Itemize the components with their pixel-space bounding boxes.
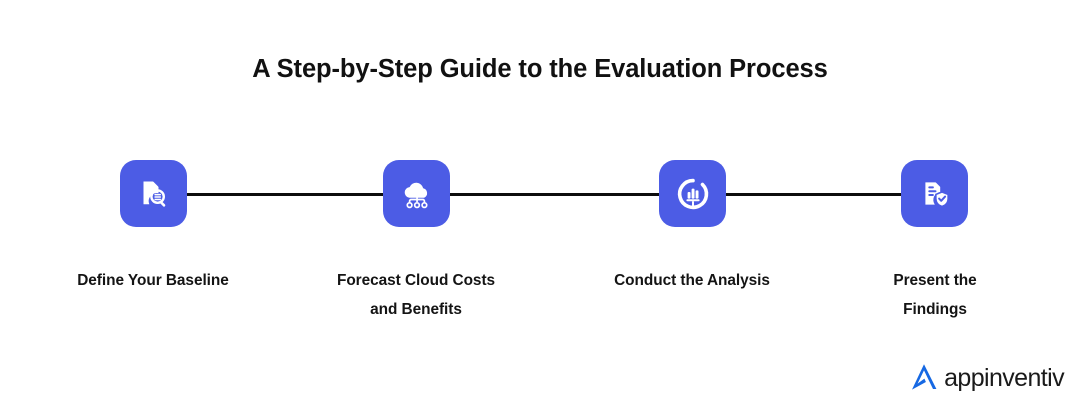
step-1-label: Define Your Baseline [33, 266, 273, 295]
step-1-label-line1: Define Your Baseline [33, 266, 273, 295]
process-steps-row [0, 155, 1080, 235]
step-2-label-line2: and Benefits [296, 295, 536, 324]
connector-line-1-2 [183, 193, 387, 196]
step-3-icon-box[interactable] [659, 160, 726, 227]
appinventiv-logo[interactable]: appinventiv [907, 360, 1064, 399]
donut-bar-chart-icon [676, 177, 710, 211]
document-shield-check-icon [918, 177, 952, 211]
document-magnifier-icon [137, 177, 171, 211]
step-4-icon-box[interactable] [901, 160, 968, 227]
step-4[interactable] [901, 160, 968, 227]
appinventiv-wordmark: appinventiv [944, 366, 1064, 393]
step-1[interactable] [120, 160, 187, 227]
step-1-icon-box[interactable] [120, 160, 187, 227]
cloud-network-icon [399, 177, 435, 211]
step-3-label-line1: Conduct the Analysis [572, 266, 812, 295]
connector-line-3-4 [722, 193, 905, 196]
step-4-label-line1: Present the [815, 266, 1055, 295]
step-3[interactable] [659, 160, 726, 227]
infographic-canvas: A Step-by-Step Guide to the Evaluation P… [0, 0, 1080, 417]
appinventiv-a-mark-icon [907, 360, 941, 399]
step-3-label: Conduct the Analysis [572, 266, 812, 295]
process-labels-row: Define Your Baseline Forecast Cloud Cost… [0, 266, 1080, 336]
connector-line-2-3 [446, 193, 663, 196]
step-2-label: Forecast Cloud Costs and Benefits [296, 266, 536, 324]
step-2-icon-box[interactable] [383, 160, 450, 227]
step-2[interactable] [383, 160, 450, 227]
step-4-label-line2: Findings [815, 295, 1055, 324]
step-2-label-line1: Forecast Cloud Costs [296, 266, 536, 295]
step-4-label: Present the Findings [815, 266, 1055, 324]
page-title: A Step-by-Step Guide to the Evaluation P… [0, 52, 1080, 86]
